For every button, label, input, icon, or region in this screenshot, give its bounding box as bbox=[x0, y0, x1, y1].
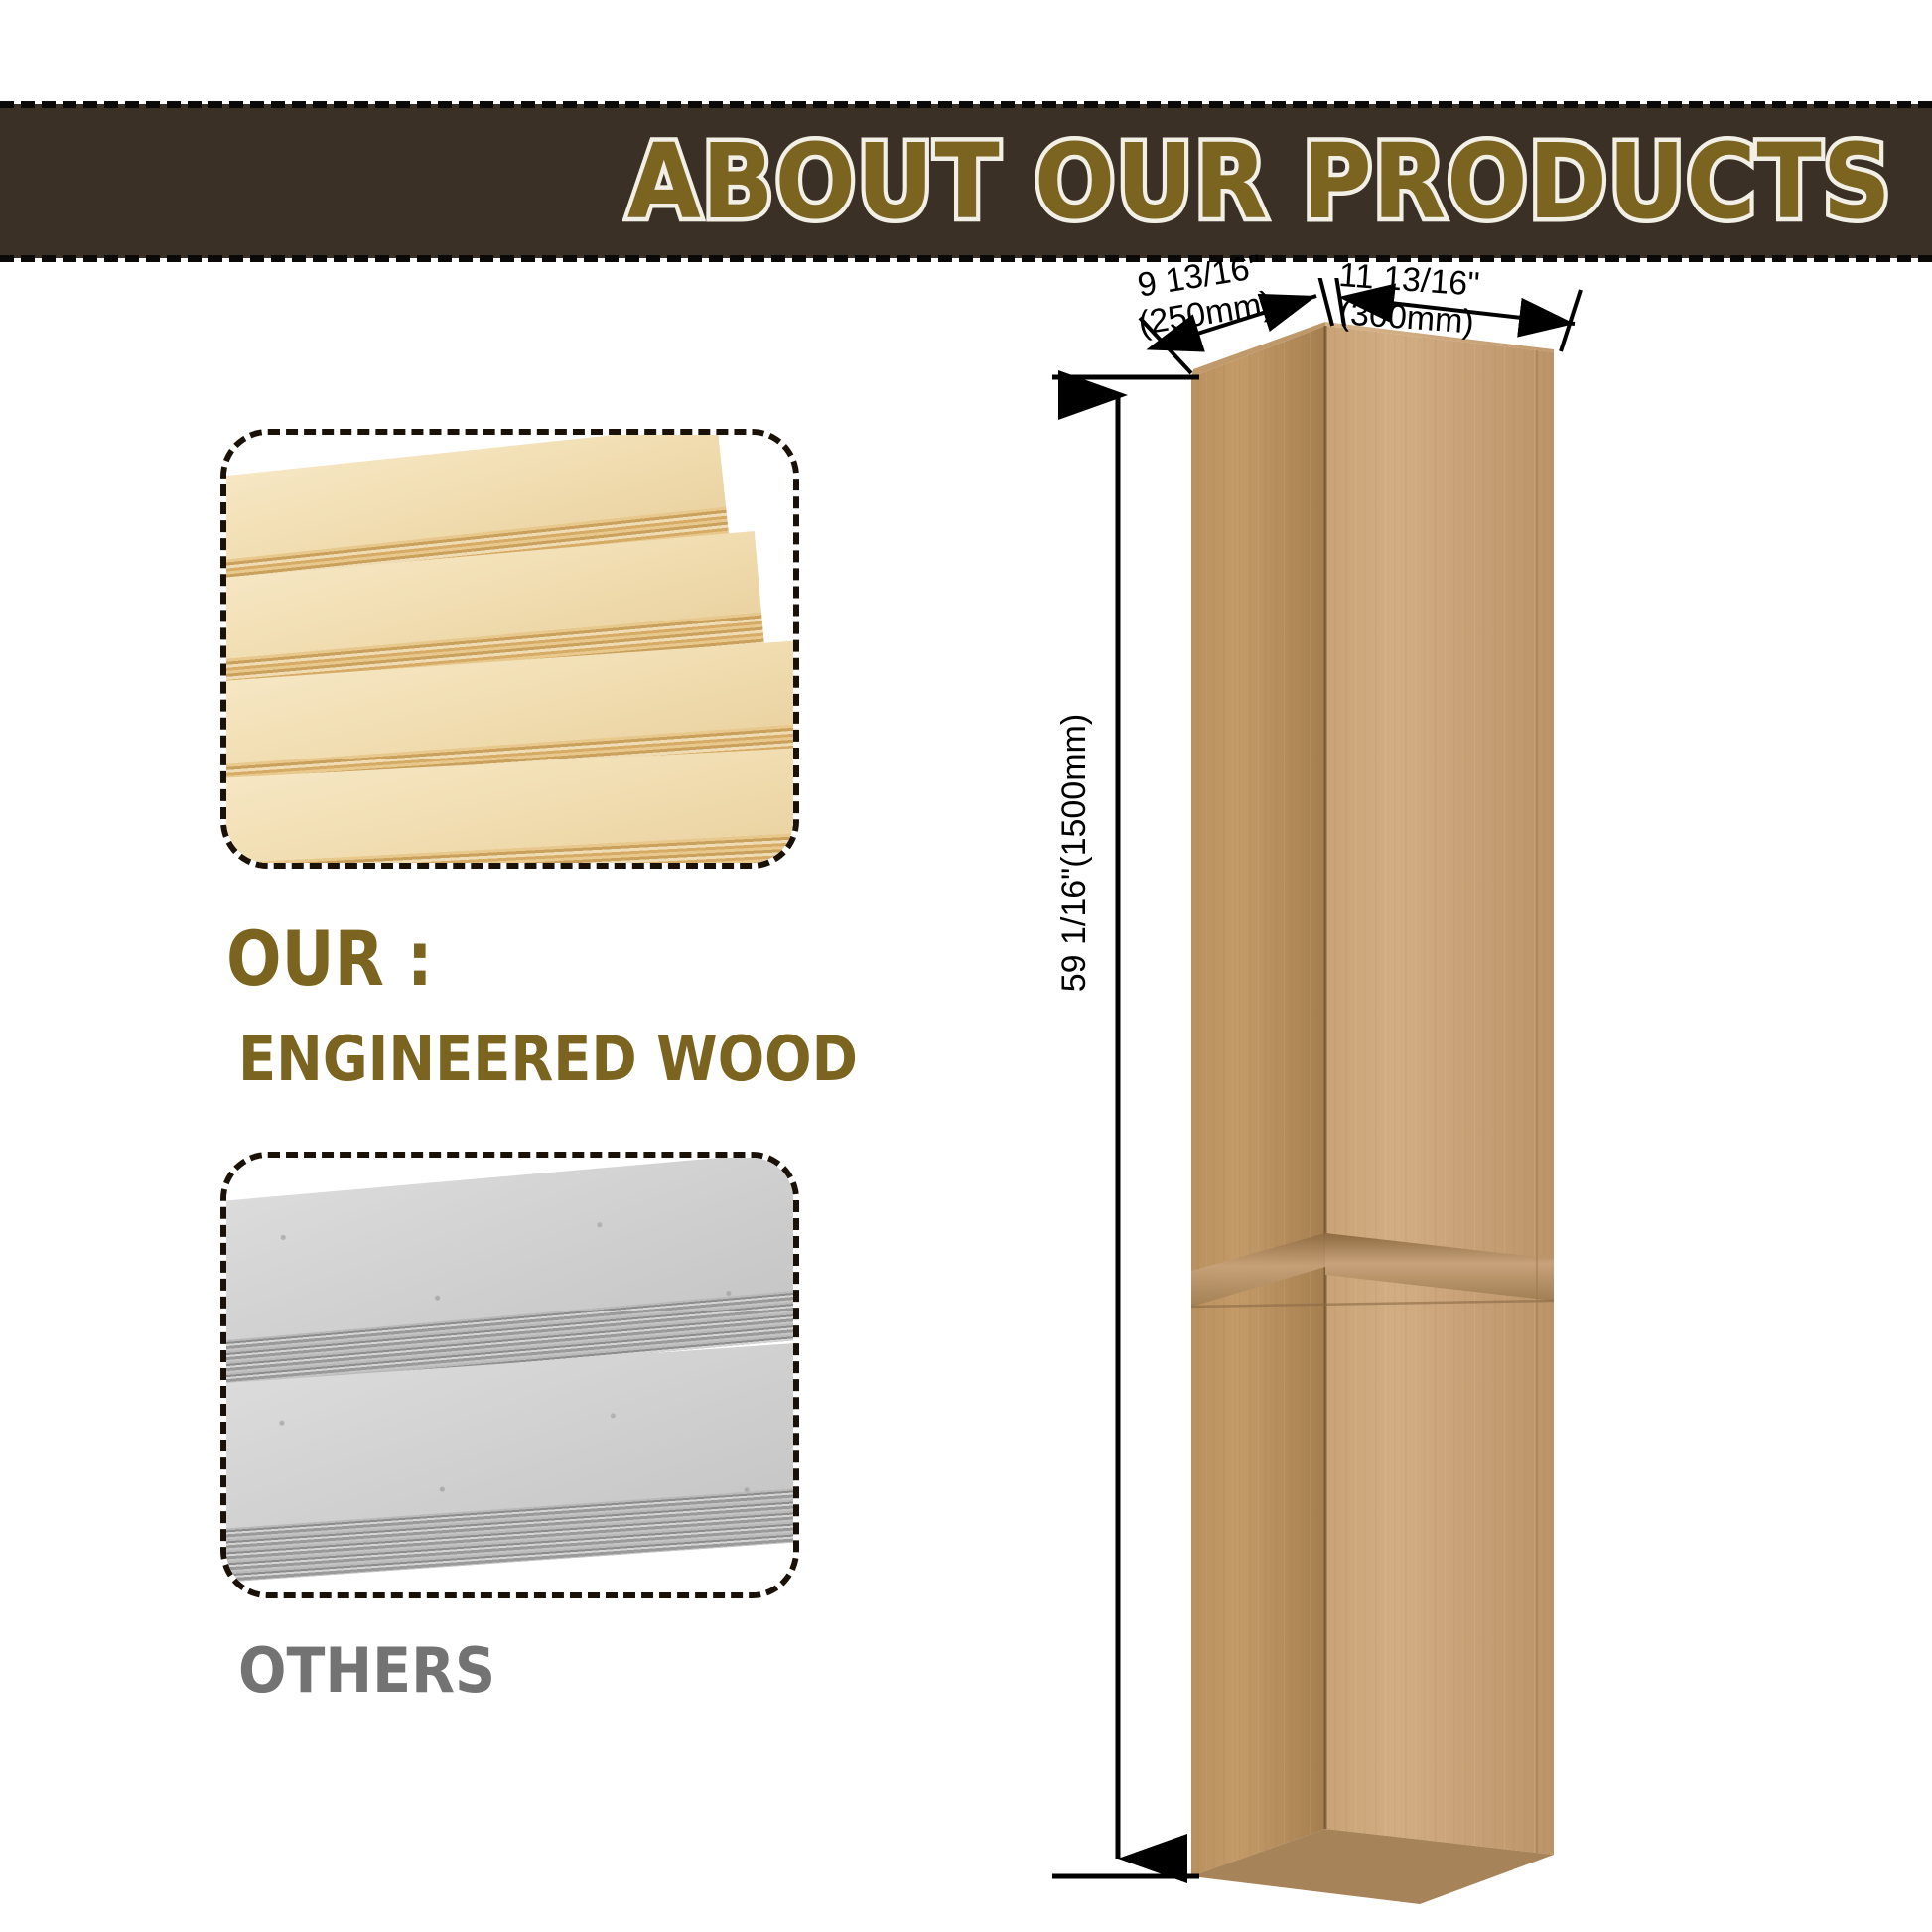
width-dimension-label: 11 13/16" (300mm) bbox=[1335, 256, 1481, 342]
others-material-photo-frame bbox=[220, 1152, 799, 1598]
banner-dashed-bottom-border bbox=[0, 255, 1932, 262]
banner-dashed-top-border bbox=[0, 101, 1932, 108]
others-label: OTHERS bbox=[238, 1640, 495, 1702]
cabinet-side-grain bbox=[1191, 326, 1325, 1876]
particleboard-stack-photo bbox=[226, 1158, 793, 1592]
our-material-label: ENGINEERED WOOD bbox=[238, 1029, 858, 1090]
cabinet-drawing bbox=[1013, 278, 1906, 1926]
engineered-wood-photo-frame bbox=[220, 429, 799, 869]
infographic-page: ABOUT OUR PRODUCTS OUR : ENGINEERED WOOD bbox=[0, 0, 1932, 1932]
height-dimension-label: 59 1/16"(1500mm) bbox=[1055, 674, 1093, 1032]
depth-extension-line-right bbox=[1316, 278, 1332, 326]
product-dimension-diagram: 9 13/16" (250mm) 11 13/16" (300mm) 59 1/… bbox=[1013, 278, 1906, 1926]
page-title: ABOUT OUR PRODUCTS bbox=[627, 130, 1892, 233]
plywood-stack-photo bbox=[226, 435, 793, 863]
cabinet-front-grain bbox=[1325, 326, 1554, 1855]
our-prefix-label: OUR : bbox=[226, 921, 433, 997]
header-banner: ABOUT OUR PRODUCTS bbox=[0, 104, 1932, 258]
